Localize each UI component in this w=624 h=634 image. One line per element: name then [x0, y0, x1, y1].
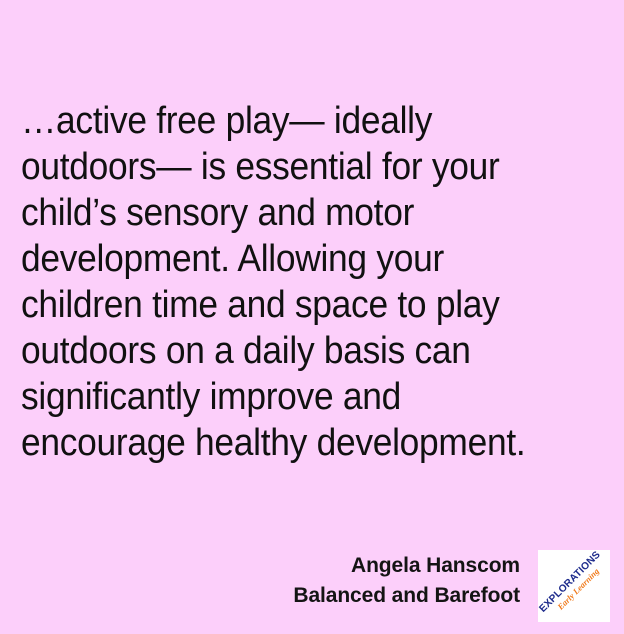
logo-artwork: EXPLORATIONS Early Learning [538, 550, 610, 622]
logo-background [538, 550, 610, 622]
quote-line: child’s sensory and motor [21, 190, 570, 236]
quote-line: …active free play— ideally [21, 98, 570, 144]
quote-text-block: …active free play— ideally outdoors— is … [21, 98, 611, 466]
quote-line: significantly improve and [21, 374, 570, 420]
attribution-source: Balanced and Barefoot [100, 581, 520, 611]
quote-line: development. Allowing your [21, 236, 570, 282]
attribution-author: Angela Hanscom [100, 551, 520, 581]
quote-card: …active free play— ideally outdoors— is … [0, 0, 624, 634]
quote-line: outdoors— is essential for your [21, 144, 570, 190]
quote-line: children time and space to play [21, 282, 570, 328]
quote-line: outdoors on a daily basis can [21, 328, 570, 374]
quote-line: encourage healthy development. [21, 420, 570, 466]
explorations-early-learning-logo: EXPLORATIONS Early Learning [538, 550, 610, 622]
attribution-block: Angela Hanscom Balanced and Barefoot [100, 551, 520, 611]
